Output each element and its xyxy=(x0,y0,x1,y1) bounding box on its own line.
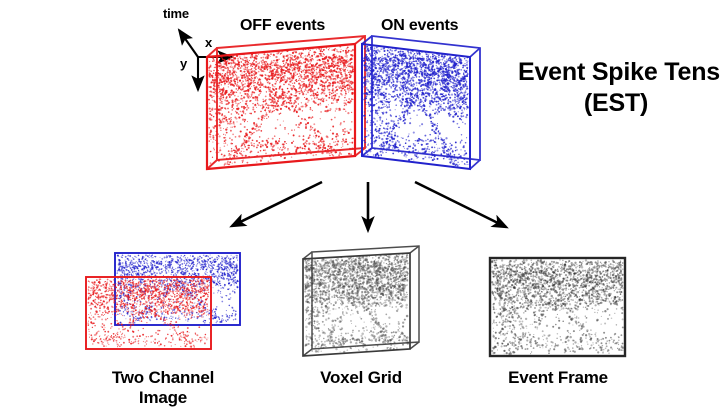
arrow-to-two-channel-image xyxy=(232,182,322,226)
figure-title-line2: (EST) xyxy=(518,89,714,117)
event-frame-caption: Event Frame xyxy=(487,368,629,387)
time-axis-arrow xyxy=(179,30,198,57)
voxel-grid-caption: Voxel Grid xyxy=(291,368,431,387)
two-channel-image-caption-line1: Two Channel xyxy=(78,368,248,387)
time-axis-label: time xyxy=(163,7,189,22)
on-events-label: ON events xyxy=(381,17,458,35)
two-channel-image-panel xyxy=(86,253,240,349)
event-spike-tensor-figure: time x y OFF events ON events Event Spik… xyxy=(0,0,720,411)
y-axis-label: y xyxy=(180,57,187,72)
event-frame-panel xyxy=(490,258,625,356)
figure-title-line1: Event Spike Tensor xyxy=(518,58,714,86)
off-events-label: OFF events xyxy=(240,17,325,35)
two-channel-image-caption-line2: Image xyxy=(78,388,248,407)
on-events-volume xyxy=(362,36,480,169)
x-axis-label: x xyxy=(205,36,212,51)
voxel-grid-panel xyxy=(303,246,419,356)
arrow-to-event-frame xyxy=(415,182,506,227)
off-events-volume xyxy=(207,36,365,169)
